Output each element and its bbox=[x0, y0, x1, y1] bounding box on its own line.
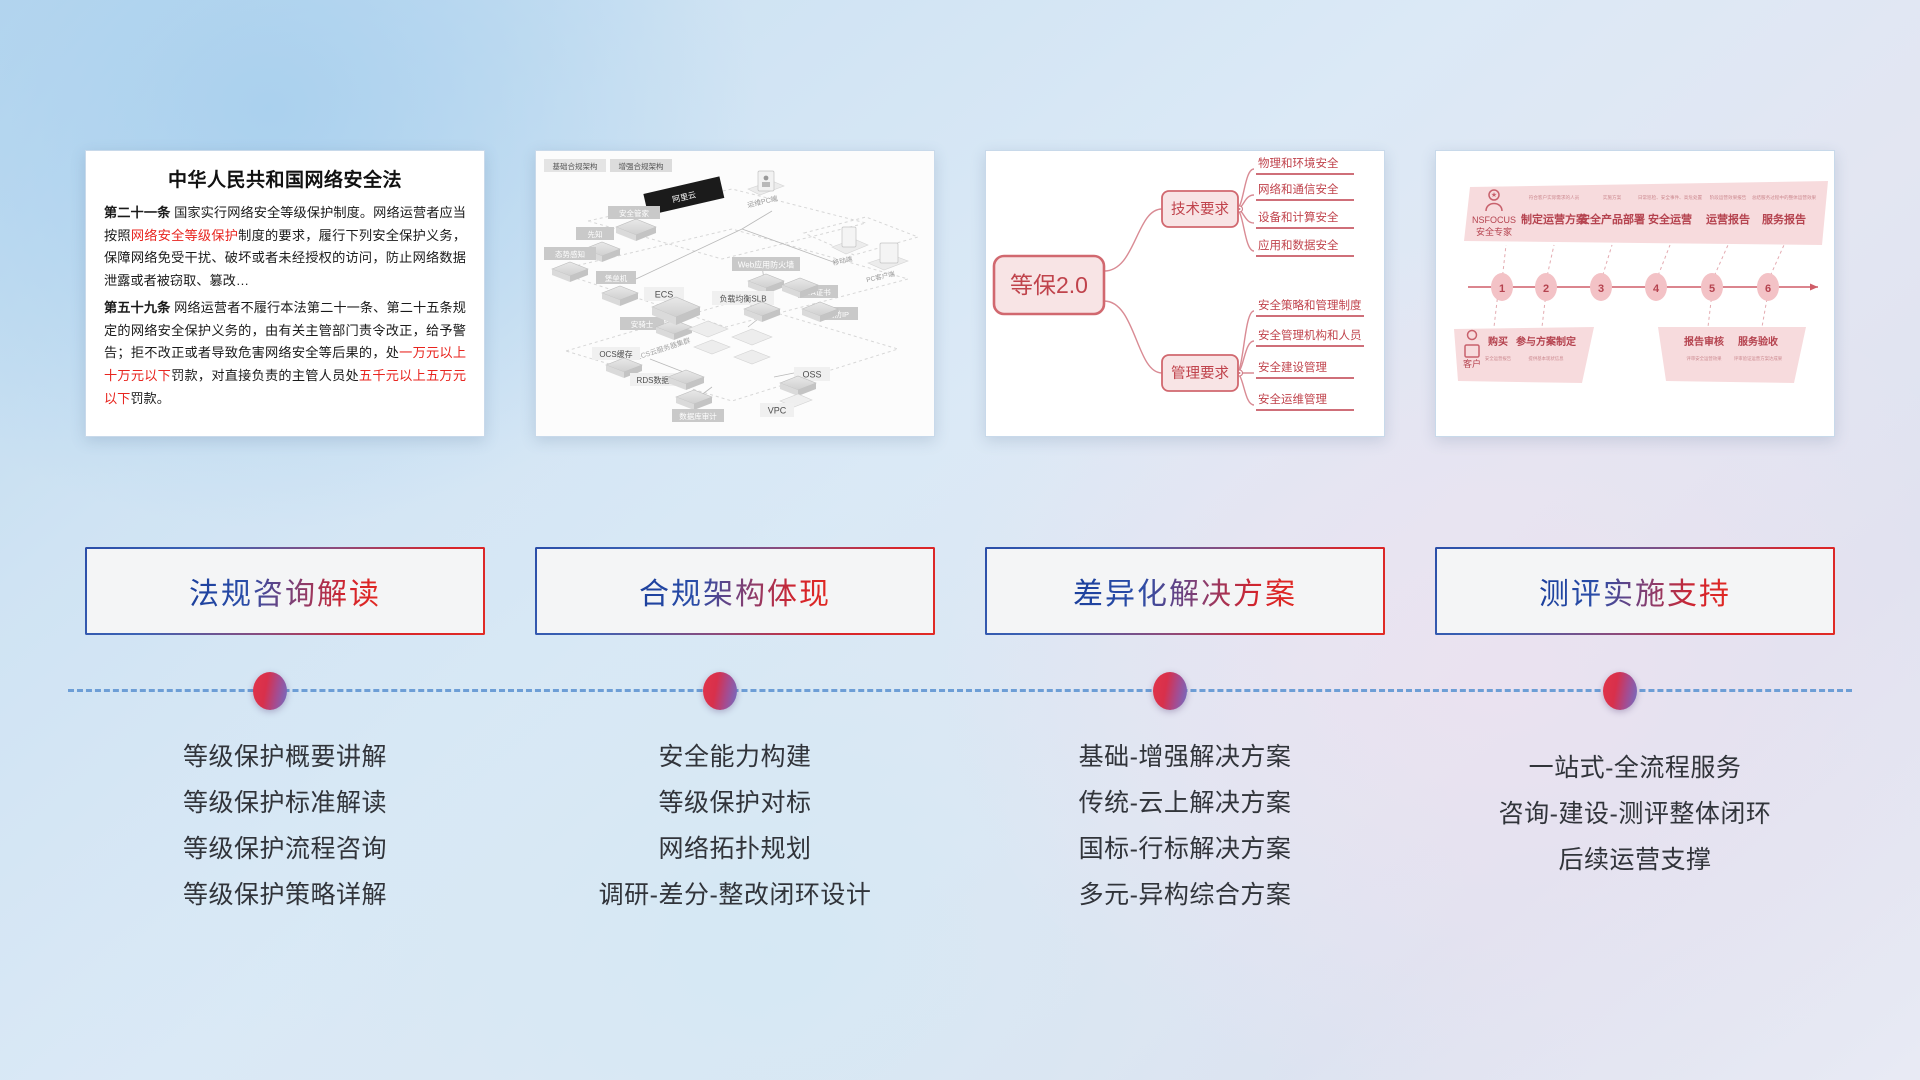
timeline-node-4[interactable] bbox=[1603, 672, 1637, 710]
nsfocus-top-caption-2: 日常巡检、安全事件、高危处置 bbox=[1638, 194, 1703, 201]
law-article-21: 第二十一条 国家实行网络安全等级保护制度。网络运营者应当按照网络安全等级保护制度… bbox=[104, 202, 466, 293]
arch-node-17: OSS bbox=[802, 370, 821, 380]
nsfocus-step-4: 5 bbox=[1709, 283, 1715, 295]
column-architecture: 安全能力构建 等级保护对标 网络拓扑规划 调研-差分-整改闭环设计 bbox=[535, 735, 935, 919]
law-article-59: 第五十九条 网络运营者不履行本法第二十一条、第二十五条规定的网络安全保护义务的，… bbox=[104, 297, 466, 411]
mindmap-leaf-0-3: 应用和数据安全 bbox=[1258, 238, 1339, 252]
nsfocus-step-2: 3 bbox=[1598, 283, 1604, 295]
column-regulation: 等级保护概要讲解 等级保护标准解读 等级保护流程咨询 等级保护策略详解 bbox=[85, 735, 485, 919]
nsfocus-timeline-svg: ★ NSFOCUS 安全专家 客户 符合客户实际需求的人员 制定运营方案 实施方… bbox=[1436, 151, 1835, 437]
nsfocus-bottom-caption-2: 评审安全运营效果 bbox=[1686, 355, 1722, 362]
list-item: 一站式-全流程服务 bbox=[1435, 746, 1835, 792]
nsfocus-step-0: 1 bbox=[1499, 283, 1505, 295]
nsfocus-top-title-0: 制定运营方案 bbox=[1521, 212, 1588, 226]
detail-columns: 等级保护概要讲解 等级保护标准解读 等级保护流程咨询 等级保护策略详解 安全能力… bbox=[0, 735, 1920, 919]
label-text-solution: 差异化解决方案 bbox=[1073, 569, 1297, 613]
nsfocus-top-caption-1: 实施方案 bbox=[1603, 194, 1622, 201]
article-highlight: 网络安全等级保护 bbox=[131, 228, 238, 243]
law-card-title: 中华人民共和国网络安全法 bbox=[104, 165, 466, 192]
list-item: 调研-差分-整改闭环设计 bbox=[535, 873, 935, 919]
nsfocus-step-1: 2 bbox=[1543, 283, 1549, 295]
mindmap-leaf-1-1: 安全管理机构和人员 bbox=[1258, 328, 1362, 342]
label-box-regulation[interactable]: 法规咨询解读 bbox=[85, 547, 485, 635]
timeline-axis bbox=[0, 645, 1920, 735]
arch-node-3: 堡垒机 bbox=[605, 273, 628, 283]
law-text-card[interactable]: 中华人民共和国网络安全法 第二十一条 国家实行网络安全等级保护制度。网络运营者应… bbox=[85, 150, 485, 437]
nsfocus-timeline-card[interactable]: ★ NSFOCUS 安全专家 客户 符合客户实际需求的人员 制定运营方案 实施方… bbox=[1435, 150, 1835, 437]
arch-tab-0: 基础合规架构 bbox=[553, 161, 598, 171]
arch-node-7: 负载均衡SLB bbox=[719, 294, 766, 304]
nsfocus-bottom-title-1: 参与方案制定 bbox=[1516, 335, 1576, 348]
list-item: 网络拓扑规划 bbox=[535, 827, 935, 873]
list-item: 基础-增强解决方案 bbox=[985, 735, 1385, 781]
list-item: 安全能力构建 bbox=[535, 735, 935, 781]
list-item: 国标-行标解决方案 bbox=[985, 827, 1385, 873]
arch-node-16: 数据库审计 bbox=[679, 411, 717, 421]
arch-node-2: 态势感知 bbox=[555, 249, 585, 259]
mindmap-branch-label-0: 技术要求 bbox=[1171, 201, 1229, 218]
arch-node-14: OCS缓存 bbox=[599, 349, 632, 359]
mindmap-root-label: 等保2.0 bbox=[1010, 272, 1088, 298]
label-box-solution[interactable]: 差异化解决方案 bbox=[985, 547, 1385, 635]
nsfocus-top-caption-3: 阶段运营效果报告 bbox=[1710, 194, 1747, 201]
nsfocus-bottom-title-0: 购买 bbox=[1488, 335, 1508, 348]
nsfocus-expert-line1: NSFOCUS bbox=[1472, 215, 1516, 225]
mindmap-branch-label-1: 管理要求 bbox=[1171, 365, 1229, 382]
nsfocus-bottom-title-3: 服务验收 bbox=[1738, 335, 1778, 348]
mindmap-svg: 等保2.0 技术要求 管理要求 物理和环境安全 网络和通信安全 设备和计算安全 … bbox=[986, 151, 1385, 437]
list-item: 等级保护概要讲解 bbox=[85, 735, 485, 781]
preview-cards-row: 中华人民共和国网络安全法 第二十一条 国家实行网络安全等级保护制度。网络运营者应… bbox=[0, 150, 1920, 440]
mindmap-card[interactable]: 等保2.0 技术要求 管理要求 物理和环境安全 网络和通信安全 设备和计算安全 … bbox=[985, 150, 1385, 437]
list-item: 等级保护标准解读 bbox=[85, 781, 485, 827]
nsfocus-bottom-caption-3: 评审验证运营方案达成果 bbox=[1734, 355, 1783, 362]
label-box-architecture[interactable]: 合规架构体现 bbox=[535, 547, 935, 635]
list-item: 等级保护对标 bbox=[535, 781, 935, 827]
timeline-node-3[interactable] bbox=[1153, 672, 1187, 710]
list-item: 后续运营支撑 bbox=[1435, 838, 1835, 884]
nsfocus-bottom-title-2: 报告审核 bbox=[1684, 335, 1724, 348]
list-item: 等级保护策略详解 bbox=[85, 873, 485, 919]
list-item: 传统-云上解决方案 bbox=[985, 781, 1385, 827]
nsfocus-top-title-3: 运营报告 bbox=[1706, 212, 1750, 226]
list-item: 咨询-建设-测评整体闭环 bbox=[1435, 792, 1835, 838]
mindmap-leaf-1-2: 安全建设管理 bbox=[1258, 360, 1327, 374]
nsfocus-bottom-caption-0: 安全运营报告 bbox=[1485, 355, 1512, 362]
nsfocus-step-5: 6 bbox=[1765, 283, 1771, 295]
architecture-diagram-card[interactable]: 基础合规架构 增强合规架构 bbox=[535, 150, 935, 437]
label-text-architecture: 合规架构体现 bbox=[639, 569, 831, 613]
timeline-node-2[interactable] bbox=[703, 672, 737, 710]
article-body-part: 罚款。 bbox=[130, 391, 170, 406]
list-item: 多元-异构综合方案 bbox=[985, 873, 1385, 919]
nsfocus-expert-line2: 安全专家 bbox=[1476, 226, 1512, 237]
mindmap-leaf-0-0: 物理和环境安全 bbox=[1258, 156, 1339, 170]
svg-text:★: ★ bbox=[1491, 191, 1497, 199]
label-text-assessment: 测评实施支持 bbox=[1539, 569, 1731, 613]
mindmap-leaf-1-3: 安全运维管理 bbox=[1258, 392, 1327, 406]
arch-node-0: 安全管家 bbox=[619, 208, 649, 218]
arch-node-1: 先知 bbox=[588, 229, 603, 239]
column-solution: 基础-增强解决方案 传统-云上解决方案 国标-行标解决方案 多元-异构综合方案 bbox=[985, 735, 1385, 919]
column-assessment: 一站式-全流程服务 咨询-建设-测评整体闭环 后续运营支撑 bbox=[1435, 735, 1835, 919]
mindmap-leaf-0-1: 网络和通信安全 bbox=[1258, 182, 1339, 196]
section-labels-row: 法规咨询解读 合规架构体现 差异化解决方案 测评实施支持 bbox=[0, 547, 1920, 639]
label-box-assessment[interactable]: 测评实施支持 bbox=[1435, 547, 1835, 635]
label-text-regulation: 法规咨询解读 bbox=[189, 569, 381, 613]
architecture-diagram-svg: 基础合规架构 增强合规架构 bbox=[536, 151, 935, 437]
list-item: 等级保护流程咨询 bbox=[85, 827, 485, 873]
article-number: 第二十一条 bbox=[104, 205, 170, 220]
arch-node-4: 安骑士 bbox=[631, 319, 654, 329]
nsfocus-top-title-1: 安全产品部署 bbox=[1579, 212, 1645, 226]
arch-node-6: Web应用防火墙 bbox=[738, 260, 794, 270]
timeline-dashed-line bbox=[68, 689, 1852, 692]
nsfocus-step-3: 4 bbox=[1653, 283, 1660, 295]
mindmap-leaf-0-2: 设备和计算安全 bbox=[1258, 210, 1339, 224]
nsfocus-top-caption-0: 符合客户实际需求的人员 bbox=[1529, 194, 1580, 201]
article-number: 第五十九条 bbox=[104, 300, 170, 315]
nsfocus-top-title-4: 服务报告 bbox=[1762, 212, 1806, 226]
article-body-part: 罚款，对直接负责的主管人员处 bbox=[171, 368, 359, 383]
nsfocus-top-caption-4: 总结服务过程中的整体运营效果 bbox=[1752, 194, 1817, 201]
mindmap-leaf-1-0: 安全策略和管理制度 bbox=[1258, 298, 1362, 312]
timeline-node-1[interactable] bbox=[253, 672, 287, 710]
arch-node-18: VPC bbox=[768, 406, 787, 416]
arch-tab-1: 增强合规架构 bbox=[619, 161, 664, 171]
nsfocus-bottom-caption-1: 提供基本现状信息 bbox=[1528, 355, 1564, 362]
arch-node-12: ECS bbox=[655, 290, 674, 300]
nsfocus-top-title-2: 安全运营 bbox=[1648, 212, 1692, 226]
customer-label: 客户 bbox=[1463, 358, 1481, 369]
